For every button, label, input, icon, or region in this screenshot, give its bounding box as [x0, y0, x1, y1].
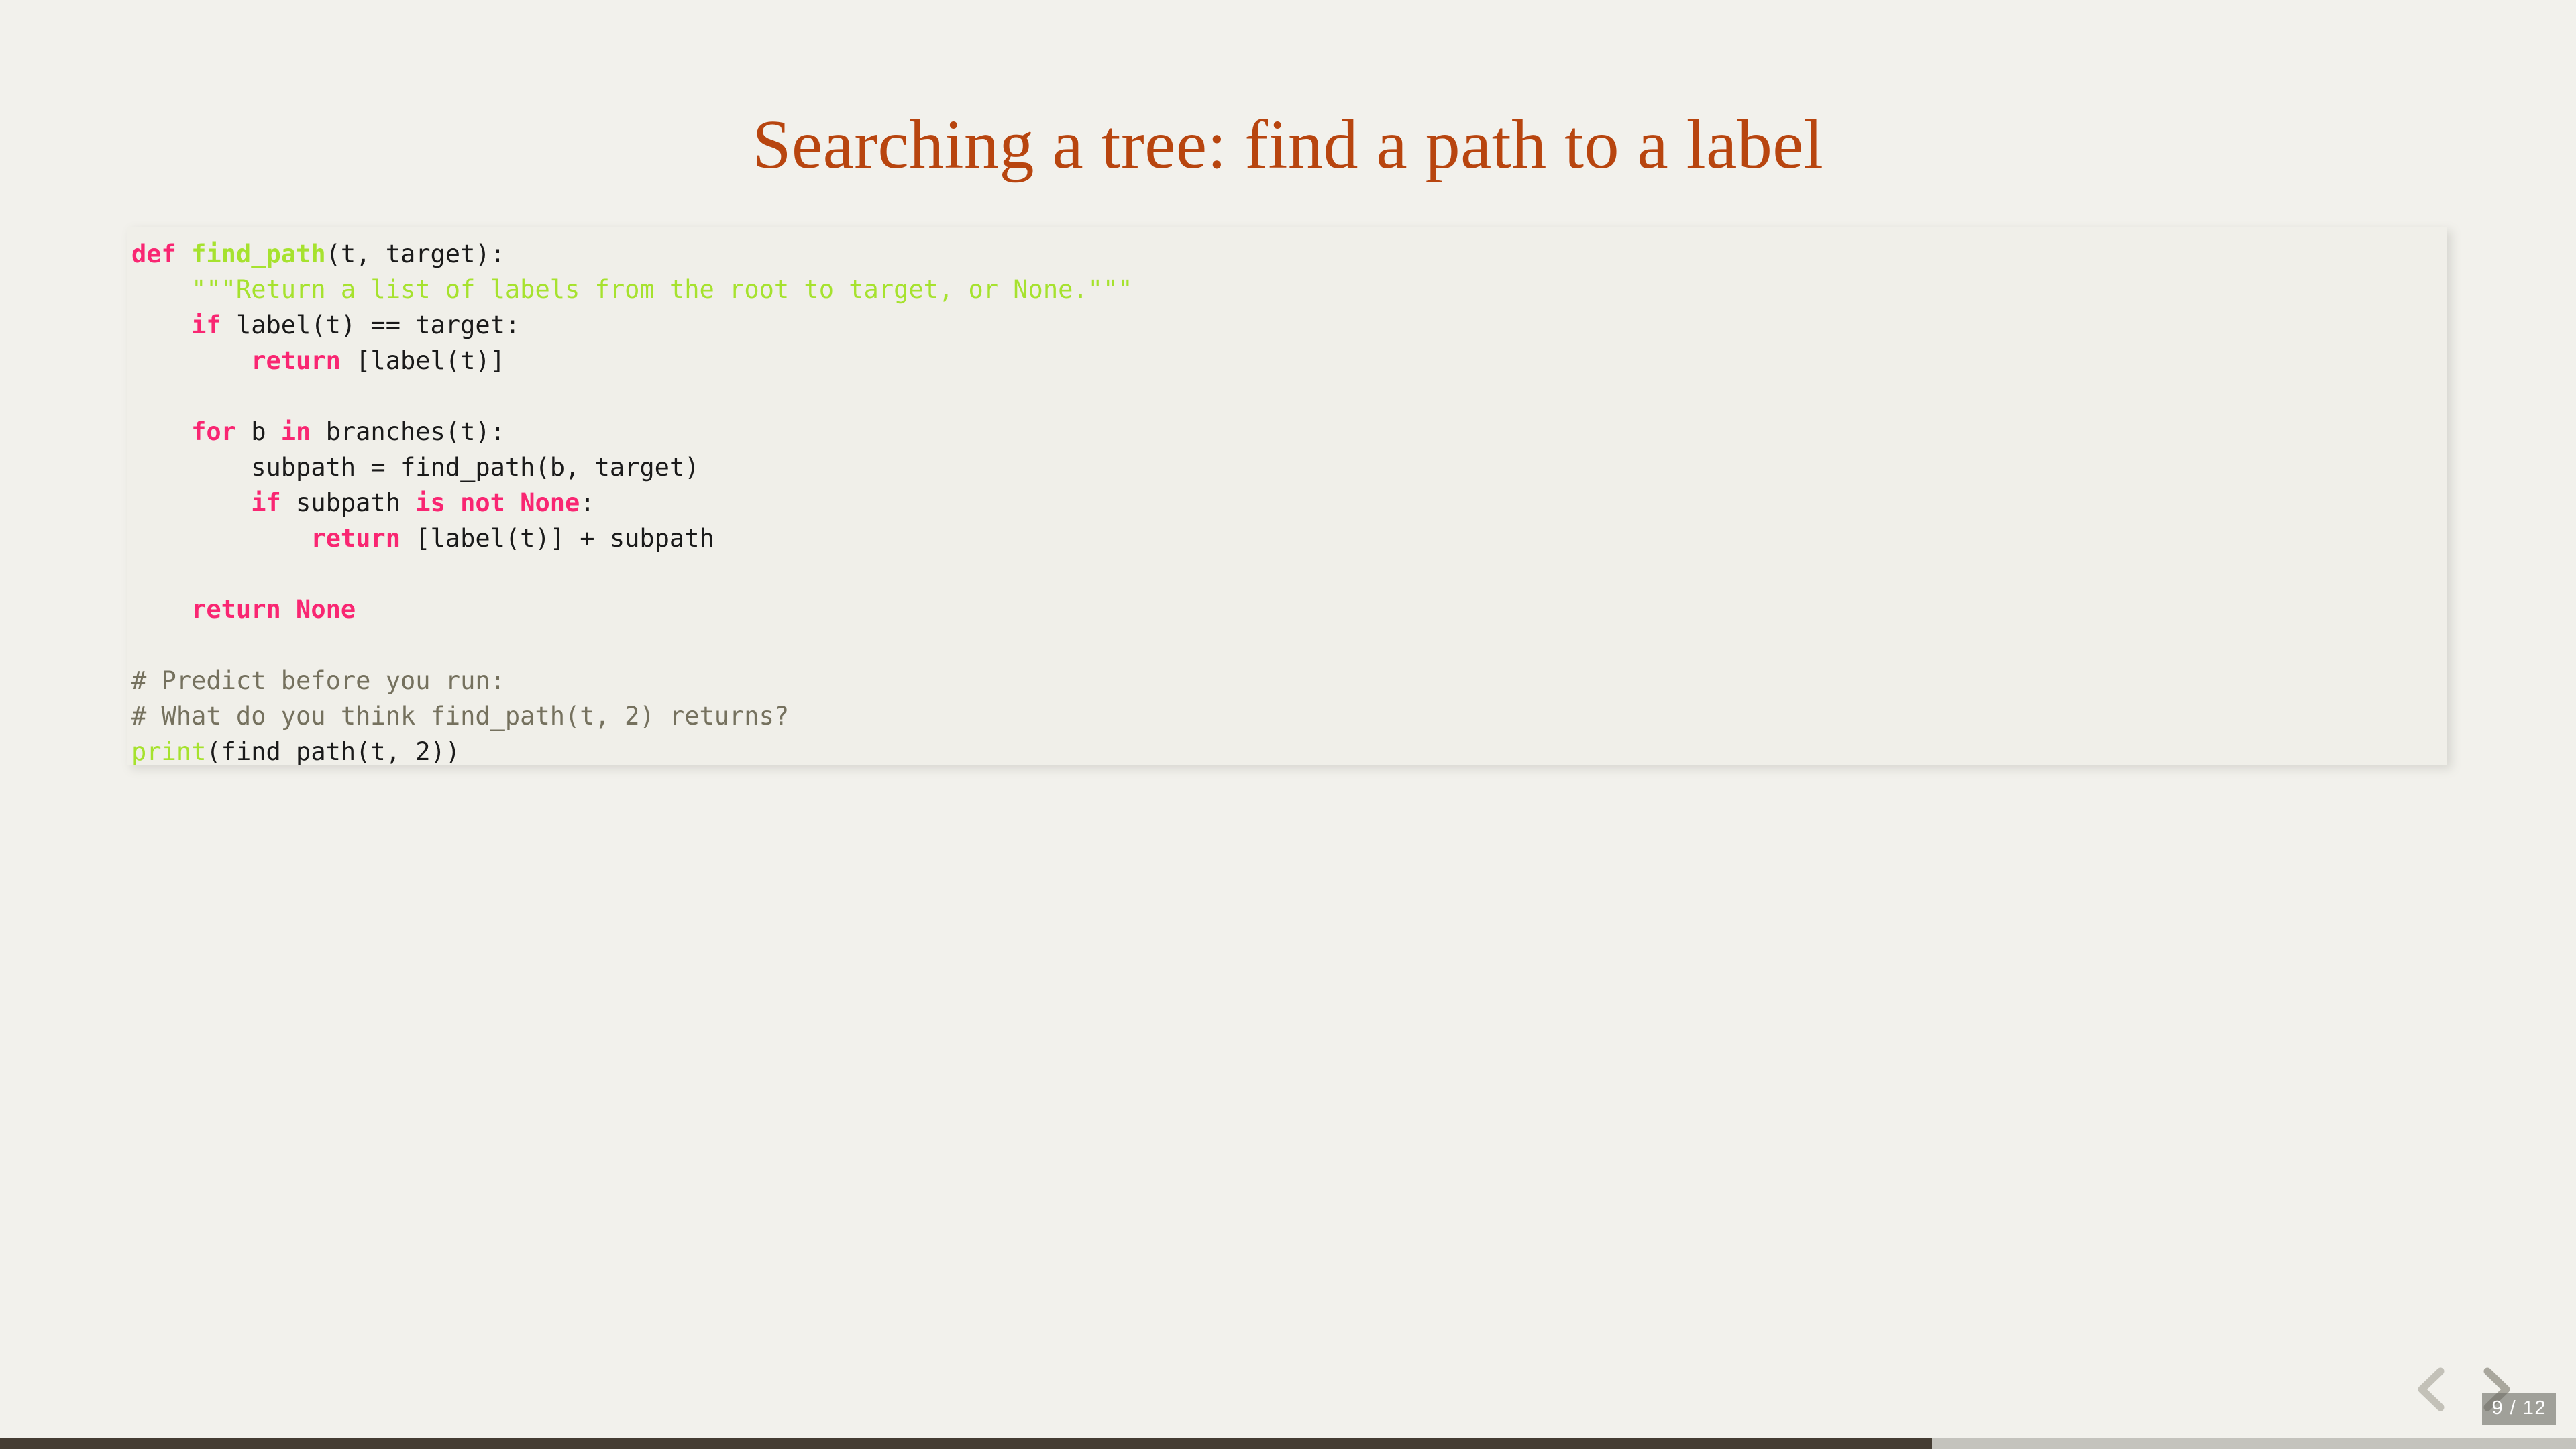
- code-token: (t, target):: [326, 239, 505, 268]
- code-token: :: [580, 488, 594, 517]
- code-token: return: [251, 346, 341, 375]
- code-token: """Return a list of labels from the root…: [191, 275, 1132, 304]
- code-token: [label(t)] + subpath: [400, 524, 714, 553]
- code-token: branches(t):: [311, 417, 505, 446]
- code-token: if: [191, 311, 221, 339]
- code-token: for: [191, 417, 236, 446]
- code-token: label(t) == target:: [221, 311, 521, 339]
- previous-slide-button[interactable]: [2403, 1360, 2461, 1418]
- code-token: if: [251, 488, 281, 517]
- code-token: return: [311, 524, 400, 553]
- code-content: def find_path(t, target): """Return a li…: [127, 236, 2447, 765]
- code-token: b: [236, 417, 281, 446]
- code-token: subpath: [281, 488, 415, 517]
- code-token: # What do you think find_path(t, 2) retu…: [131, 702, 789, 731]
- code-token: subpath = find_path(b, target): [251, 453, 699, 482]
- code-block: def find_path(t, target): """Return a li…: [127, 227, 2447, 765]
- code-token: [label(t)]: [341, 346, 505, 375]
- code-token: is not None: [415, 488, 580, 517]
- slide-counter: 9 / 12: [2482, 1393, 2556, 1425]
- code-token: # Predict before you run:: [131, 666, 505, 695]
- slide-navigation: 9 / 12: [2403, 1355, 2557, 1425]
- code-token: print: [131, 737, 206, 765]
- code-token: def: [131, 239, 176, 268]
- chevron-left-icon: [2403, 1360, 2461, 1418]
- code-token: (find_path(t, 2)): [206, 737, 460, 765]
- slide-canvas: Searching a tree: find a path to a label…: [0, 0, 2576, 1449]
- code-token: in: [281, 417, 311, 446]
- code-token: find_path: [191, 239, 325, 268]
- page-title: Searching a tree: find a path to a label: [0, 106, 2576, 184]
- progress-fill: [0, 1438, 1932, 1449]
- progress-track[interactable]: [0, 1438, 2576, 1449]
- code-token: return None: [191, 595, 356, 624]
- code-token: [176, 239, 191, 268]
